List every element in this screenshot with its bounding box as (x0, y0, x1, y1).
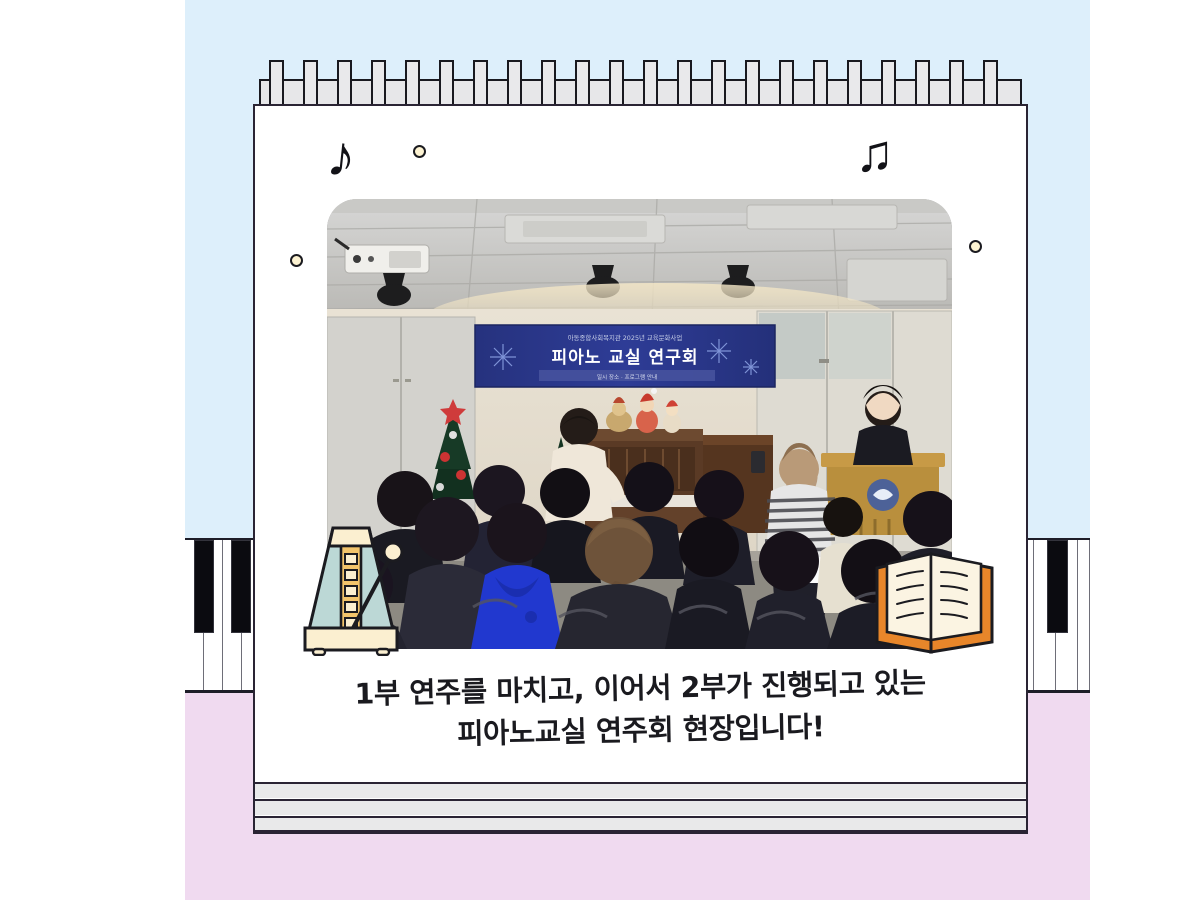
photo-scene: 아동종합사회복지관 2025년 교육문화사업 피아노 교실 연구회 일시 장소 … (327, 199, 952, 649)
binding-tab (983, 60, 998, 106)
binding-tab (269, 60, 284, 106)
binding-tab (507, 60, 522, 106)
ruled-line (255, 782, 1026, 798)
svg-text:피아노 교실 연구회: 피아노 교실 연구회 (552, 348, 699, 368)
binding-tab (405, 60, 420, 106)
decorative-dot (290, 254, 303, 267)
caption-text: 1부 연주를 마치고, 이어서 2부가 진행되고 있는 피아노교실 연주회 현장… (294, 661, 987, 759)
ruled-line (255, 816, 1026, 832)
notebook-page: ♪ ♫ (253, 104, 1028, 834)
svg-text:아동종합사회복지관 2025년 교육문화사업: 아동종합사회복지관 2025년 교육문화사업 (568, 333, 683, 342)
metronome-icon (297, 518, 405, 656)
poster-canvas: ♪ ♫ (0, 0, 1200, 900)
binding-tab (813, 60, 828, 106)
binding-tab (303, 60, 318, 106)
binding-tab (541, 60, 556, 106)
black-key (231, 540, 251, 633)
svg-text:일시 장소 · 프로그램 안내: 일시 장소 · 프로그램 안내 (597, 373, 657, 381)
black-key (194, 540, 214, 633)
binding-tab (439, 60, 454, 106)
binding-tab (711, 60, 726, 106)
open-book-icon (867, 544, 1002, 662)
binding-tab (949, 60, 964, 106)
event-photo: 아동종합사회복지관 2025년 교육문화사업 피아노 교실 연구회 일시 장소 … (327, 199, 952, 649)
binding-tab (371, 60, 386, 106)
decorative-dot (413, 145, 426, 158)
binding-tab (643, 60, 658, 106)
binding-tab (745, 60, 760, 106)
ruled-line (255, 799, 1026, 815)
binding-tab (847, 60, 862, 106)
decorative-dot (969, 240, 982, 253)
beamed-notes-icon: ♫ (855, 128, 894, 180)
black-key (1047, 540, 1068, 633)
binding-tab (881, 60, 896, 106)
binding-tab (337, 60, 352, 106)
eighth-note-icon: ♪ (324, 127, 359, 188)
binding-tab (677, 60, 692, 106)
notebook-binding (253, 58, 1028, 106)
binding-tab (609, 60, 624, 106)
binding-tab (473, 60, 488, 106)
notebook-ruled-lines (255, 780, 1026, 832)
binding-tab (779, 60, 794, 106)
binding-tab (575, 60, 590, 106)
binding-tab (915, 60, 930, 106)
